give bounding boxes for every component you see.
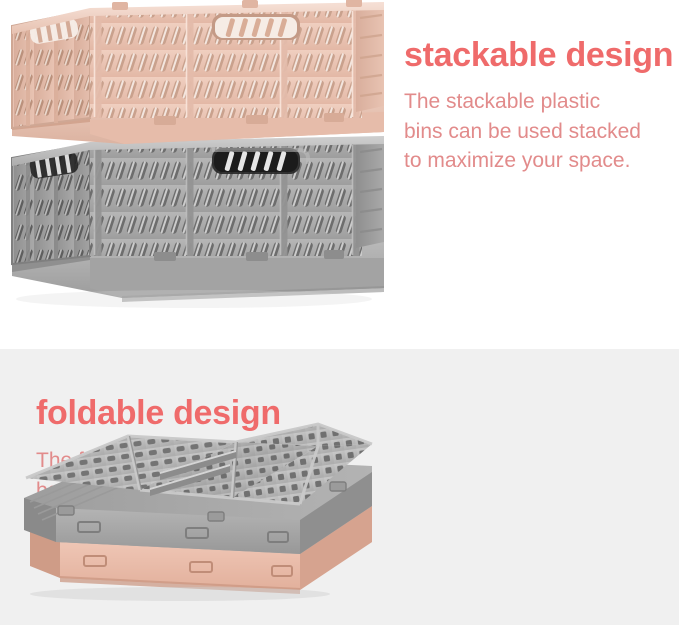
body-stackable: The stackable plastic bins can be used s… xyxy=(404,87,673,176)
section-stackable: stackable design The stackable plastic b… xyxy=(0,0,679,349)
heading-stackable: stackable design xyxy=(404,38,673,74)
body-line: The stackable plastic xyxy=(404,90,600,113)
gray-crate-open xyxy=(8,136,384,302)
folded-crates-photo xyxy=(0,414,392,614)
section-foldable: foldable design The foldable plastic bas… xyxy=(0,349,679,625)
copy-block-stackable: stackable design The stackable plastic b… xyxy=(404,38,673,176)
pink-crate-open xyxy=(8,0,384,144)
body-line: to maximize your space. xyxy=(404,149,630,172)
stacked-crates-photo xyxy=(0,0,406,316)
product-feature-image: stackable design The stackable plastic b… xyxy=(0,0,679,625)
body-line: bins can be used stacked xyxy=(404,120,641,143)
